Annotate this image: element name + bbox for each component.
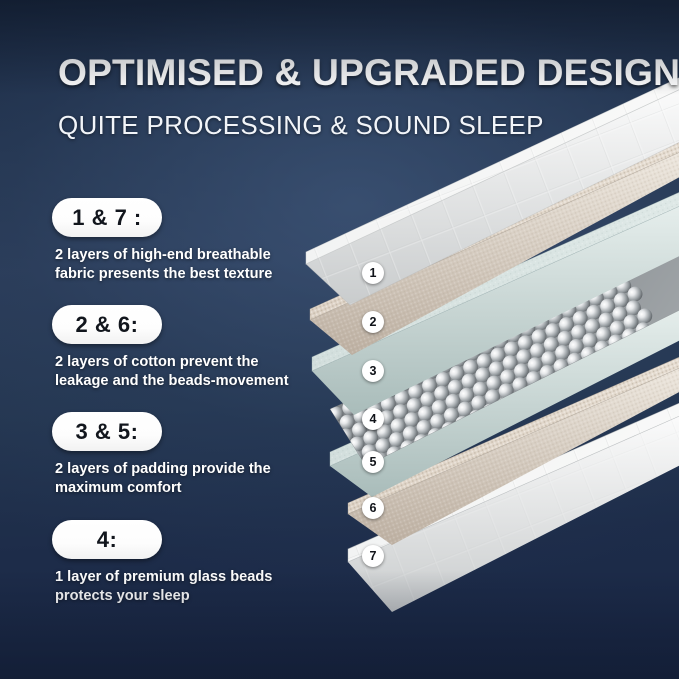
layer-number-badges: 1 2 3 4 5 6 7 <box>0 0 679 679</box>
layer-badge-3: 3 <box>362 360 384 382</box>
layer-badge-2: 2 <box>362 311 384 333</box>
poster-canvas: OPTIMISED & UPGRADED DESIGN QUITE PROCES… <box>0 0 679 679</box>
layer-badge-7: 7 <box>362 545 384 567</box>
layer-badge-5: 5 <box>362 451 384 473</box>
layer-badge-1: 1 <box>362 262 384 284</box>
layer-badge-4: 4 <box>362 408 384 430</box>
layer-badge-6: 6 <box>362 497 384 519</box>
